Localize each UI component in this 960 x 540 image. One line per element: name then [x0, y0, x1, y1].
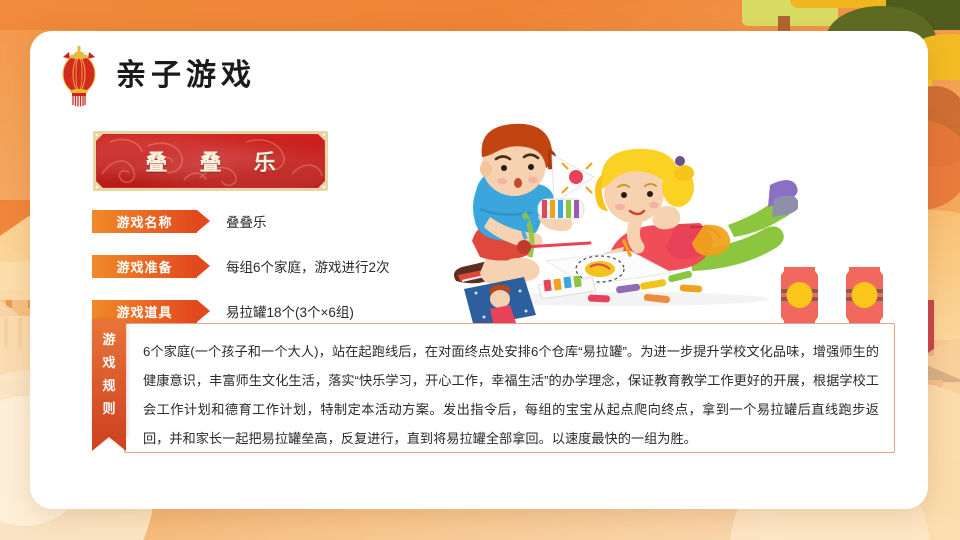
chinese-lantern-icon [56, 45, 102, 107]
two-children-drawing-illustration [428, 113, 798, 325]
ribbon-char-4: 则 [102, 397, 115, 420]
info-tag-name-label: 游戏名称 [116, 212, 172, 231]
soda-can-group [778, 263, 886, 325]
ribbon-char-1: 游 [102, 328, 115, 351]
ribbon-char-2: 戏 [102, 351, 115, 374]
info-value-preparation: 每组6个家庭，游戏进行2次 [226, 256, 390, 276]
game-rules-ribbon: 游 戏 规 则 [92, 319, 126, 437]
card-header: 亲子游戏 [56, 45, 256, 107]
info-tag-preparation-label: 游戏准备 [116, 257, 172, 276]
ribbon-char-3: 规 [102, 374, 115, 397]
game-rules-box: 6个家庭(一个孩子和一个大人)，站在起跑线后，在对面终点处安排6个仓库“易拉罐”… [124, 323, 895, 453]
banner-corner-ornament-nw [94, 132, 105, 143]
banner-corner-ornament-sw [94, 179, 105, 190]
info-value-props: 易拉罐18个(3个×6组) [226, 301, 354, 321]
page-title: 亲子游戏 [116, 61, 256, 91]
soda-can-icon-1 [778, 263, 821, 325]
content-card: 亲子游戏 叠 叠 乐 [30, 31, 928, 509]
info-tag-props-label: 游戏道具 [116, 302, 172, 321]
game-rules-text: 6个家庭(一个孩子和一个大人)，站在起跑线后，在对面终点处安排6个仓库“易拉罐”… [143, 337, 879, 453]
soda-can-icon-2 [843, 263, 886, 325]
info-tag-name: 游戏名称 [92, 210, 197, 233]
game-title-text: 叠 叠 乐 [132, 145, 288, 177]
game-rules-section: 6个家庭(一个孩子和一个大人)，站在起跑线后，在对面终点处安排6个仓库“易拉罐”… [92, 323, 900, 455]
slide-stage: 亲子游戏 叠 叠 乐 [0, 0, 960, 540]
info-value-name: 叠叠乐 [226, 211, 267, 231]
banner-corner-ornament-se [316, 179, 327, 190]
banner-corner-ornament-ne [316, 132, 327, 143]
game-title-banner: 叠 叠 乐 [93, 131, 328, 191]
info-tag-preparation: 游戏准备 [92, 255, 197, 278]
